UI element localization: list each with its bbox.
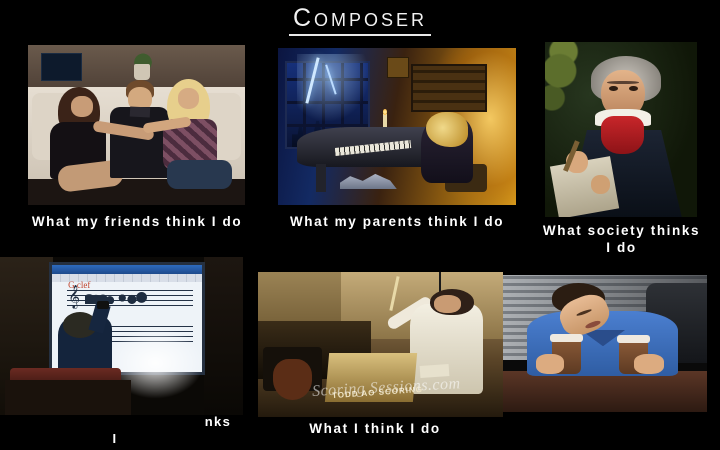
caption-fragment-nks: nks bbox=[188, 413, 248, 430]
panel-teachers-image: G clef 𝄞 bbox=[0, 257, 243, 415]
meme-image: Composer What my friends think I do bbox=[0, 0, 720, 450]
panel-friends-image bbox=[28, 45, 245, 205]
scene-smartboard-music-lesson: G clef 𝄞 bbox=[0, 257, 243, 415]
bookshelf bbox=[411, 64, 486, 112]
scene-beethoven-portrait bbox=[545, 42, 697, 217]
treble-clef-icon: 𝄞 bbox=[68, 286, 80, 306]
caption-society-line1: What society thinks bbox=[523, 222, 720, 239]
caption-parents: What my parents think I do bbox=[266, 213, 528, 230]
caption-fragment-i: I bbox=[80, 430, 150, 447]
clock bbox=[387, 57, 408, 78]
caption-society: What society thinks I do bbox=[523, 222, 720, 256]
marker bbox=[97, 301, 109, 309]
panel-society-image bbox=[545, 42, 697, 217]
scene-composer-painting bbox=[278, 48, 516, 205]
caption-friends: What my friends think I do bbox=[8, 213, 266, 230]
scene-conductor-scoring-session: TODD AO SCORING Scoring Sessions.com bbox=[258, 272, 503, 417]
caption-society-line2: I do bbox=[523, 239, 720, 256]
red-scarf bbox=[601, 116, 644, 155]
panel-conductor-image: TODD AO SCORING Scoring Sessions.com bbox=[258, 272, 503, 417]
panel-parents-image bbox=[278, 48, 516, 205]
meme-title: Composer bbox=[0, 4, 720, 36]
caption-i-think: What I think I do bbox=[275, 420, 475, 437]
cello bbox=[273, 359, 312, 400]
desk bbox=[503, 371, 707, 412]
scene-tired-man-coffee bbox=[503, 275, 707, 412]
scene-sitcom-couch bbox=[28, 45, 245, 205]
meme-title-text: Composer bbox=[289, 4, 431, 36]
tv-screen bbox=[41, 53, 82, 81]
panel-reality-image bbox=[503, 275, 707, 412]
